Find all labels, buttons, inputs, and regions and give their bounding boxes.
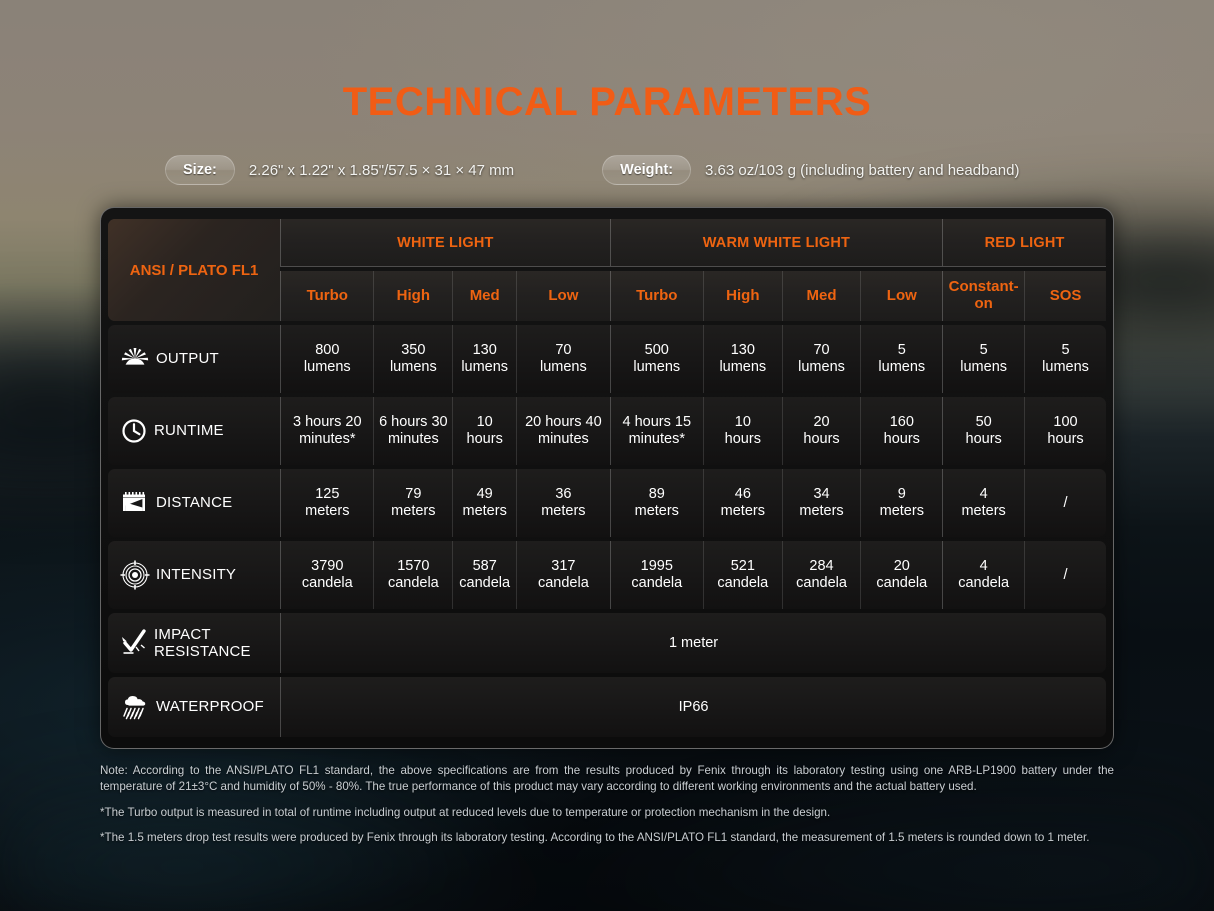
cell-runtime-0: 3 hours 20minutes*: [280, 397, 373, 465]
spec-table: ANSI / PLATO FL1 WHITE LIGHT WARM WHITE …: [108, 215, 1106, 741]
notes-section: Note: According to the ANSI/PLATO FL1 st…: [100, 763, 1114, 847]
cell-distance-7: 9meters: [860, 469, 942, 537]
table-header-groups: ANSI / PLATO FL1 WHITE LIGHT WARM WHITE …: [108, 219, 1106, 267]
sun-burst-icon: [120, 346, 150, 372]
row-label-impact-resistance: IMPACTRESISTANCE: [108, 613, 280, 673]
table-row-runtime: RUNTIME 3 hours 20minutes* 6 hours 30min…: [108, 397, 1106, 465]
cell-intensity-9: /: [1024, 541, 1106, 609]
table-row-waterproof: WATERPROOF IP66: [108, 677, 1106, 737]
mode-white-turbo: Turbo: [280, 271, 373, 321]
mode-warm-turbo: Turbo: [610, 271, 703, 321]
note-standard: Note: According to the ANSI/PLATO FL1 st…: [100, 763, 1114, 796]
cell-runtime-9: 100hours: [1024, 397, 1106, 465]
cell-distance-1: 79meters: [373, 469, 452, 537]
impact-check-icon: [120, 628, 148, 658]
cell-intensity-6: 284candela: [782, 541, 861, 609]
cell-intensity-5: 521candela: [703, 541, 782, 609]
cell-intensity-0: 3790candela: [280, 541, 373, 609]
mode-warm-high: High: [703, 271, 782, 321]
size-weight-row: Size: 2.26" x 1.22" x 1.85"/57.5 × 31 × …: [0, 155, 1214, 185]
cell-intensity-3: 317candela: [516, 541, 609, 609]
beam-distance-icon: [120, 490, 150, 516]
row-label-distance: DISTANCE: [108, 469, 280, 537]
cell-waterproof-value: IP66: [280, 677, 1106, 737]
cell-distance-9: /: [1024, 469, 1106, 537]
mode-red-constant-on: Constant-on: [942, 271, 1024, 321]
cell-runtime-3: 20 hours 40minutes: [516, 397, 609, 465]
weight-label-pill: Weight:: [602, 155, 691, 185]
cell-output-3: 70lumens: [516, 325, 609, 393]
cell-output-7: 5lumens: [860, 325, 942, 393]
mode-white-med: Med: [452, 271, 516, 321]
cell-distance-5: 46meters: [703, 469, 782, 537]
spec-table-frame: ANSI / PLATO FL1 WHITE LIGHT WARM WHITE …: [100, 207, 1114, 749]
note-turbo-output: *The Turbo output is measured in total o…: [100, 805, 1114, 821]
row-label-runtime: RUNTIME: [108, 397, 280, 465]
cell-output-6: 70lumens: [782, 325, 861, 393]
mode-warm-low: Low: [860, 271, 942, 321]
row-label-text: OUTPUT: [156, 350, 219, 367]
cell-output-8: 5lumens: [942, 325, 1024, 393]
cell-intensity-2: 587candela: [452, 541, 516, 609]
row-label-text: DISTANCE: [156, 494, 232, 511]
cell-distance-8: 4meters: [942, 469, 1024, 537]
page-title: TECHNICAL PARAMETERS: [0, 80, 1214, 125]
target-intensity-icon: [120, 560, 150, 590]
row-label-text: IMPACTRESISTANCE: [154, 626, 251, 660]
row-label-text: WATERPROOF: [156, 698, 264, 715]
cell-distance-4: 89meters: [610, 469, 703, 537]
group-white-light: WHITE LIGHT: [280, 219, 609, 267]
cell-distance-3: 36meters: [516, 469, 609, 537]
cell-runtime-2: 10hours: [452, 397, 516, 465]
row-label-text: INTENSITY: [156, 566, 236, 583]
cell-intensity-4: 1995candela: [610, 541, 703, 609]
cell-output-2: 130lumens: [452, 325, 516, 393]
row-label-output: OUTPUT: [108, 325, 280, 393]
cell-distance-6: 34meters: [782, 469, 861, 537]
mode-warm-med: Med: [782, 271, 861, 321]
cell-runtime-7: 160hours: [860, 397, 942, 465]
cell-runtime-1: 6 hours 30minutes: [373, 397, 452, 465]
size-label-pill: Size:: [165, 155, 235, 185]
row-label-waterproof: WATERPROOF: [108, 677, 280, 737]
cell-distance-0: 125meters: [280, 469, 373, 537]
rain-cloud-icon: [120, 693, 150, 721]
table-row-output: OUTPUT 800lumens 350lumens 130lumens 70l…: [108, 325, 1106, 393]
cell-intensity-1: 1570candela: [373, 541, 452, 609]
cell-impact-resistance-value: 1 meter: [280, 613, 1106, 673]
cell-output-9: 5lumens: [1024, 325, 1106, 393]
ansi-plato-label: ANSI / PLATO FL1: [108, 219, 280, 321]
table-row-distance: DISTANCE 125meters 79meters 49meters 36m…: [108, 469, 1106, 537]
clock-icon: [120, 417, 148, 445]
cell-runtime-4: 4 hours 15minutes*: [610, 397, 703, 465]
cell-output-5: 130lumens: [703, 325, 782, 393]
mode-white-high: High: [373, 271, 452, 321]
cell-runtime-6: 20hours: [782, 397, 861, 465]
cell-intensity-7: 20candela: [860, 541, 942, 609]
table-row-impact-resistance: IMPACTRESISTANCE 1 meter: [108, 613, 1106, 673]
cell-runtime-8: 50hours: [942, 397, 1024, 465]
weight-value: 3.63 oz/103 g (including battery and hea…: [705, 162, 1019, 179]
mode-white-low: Low: [516, 271, 609, 321]
group-warm-white-light: WARM WHITE LIGHT: [610, 219, 943, 267]
mode-red-sos: SOS: [1024, 271, 1106, 321]
row-label-intensity: INTENSITY: [108, 541, 280, 609]
cell-distance-2: 49meters: [452, 469, 516, 537]
technical-parameters-page: TECHNICAL PARAMETERS Size: 2.26" x 1.22"…: [0, 0, 1214, 911]
note-drop-test: *The 1.5 meters drop test results were p…: [100, 830, 1114, 846]
row-label-text: RUNTIME: [154, 422, 224, 439]
cell-output-4: 500lumens: [610, 325, 703, 393]
table-row-intensity: INTENSITY 3790candela 1570candela 587can…: [108, 541, 1106, 609]
cell-runtime-5: 10hours: [703, 397, 782, 465]
cell-output-0: 800lumens: [280, 325, 373, 393]
cell-output-1: 350lumens: [373, 325, 452, 393]
group-red-light: RED LIGHT: [942, 219, 1106, 267]
size-value: 2.26" x 1.22" x 1.85"/57.5 × 31 × 47 mm: [249, 162, 514, 179]
cell-intensity-8: 4candela: [942, 541, 1024, 609]
